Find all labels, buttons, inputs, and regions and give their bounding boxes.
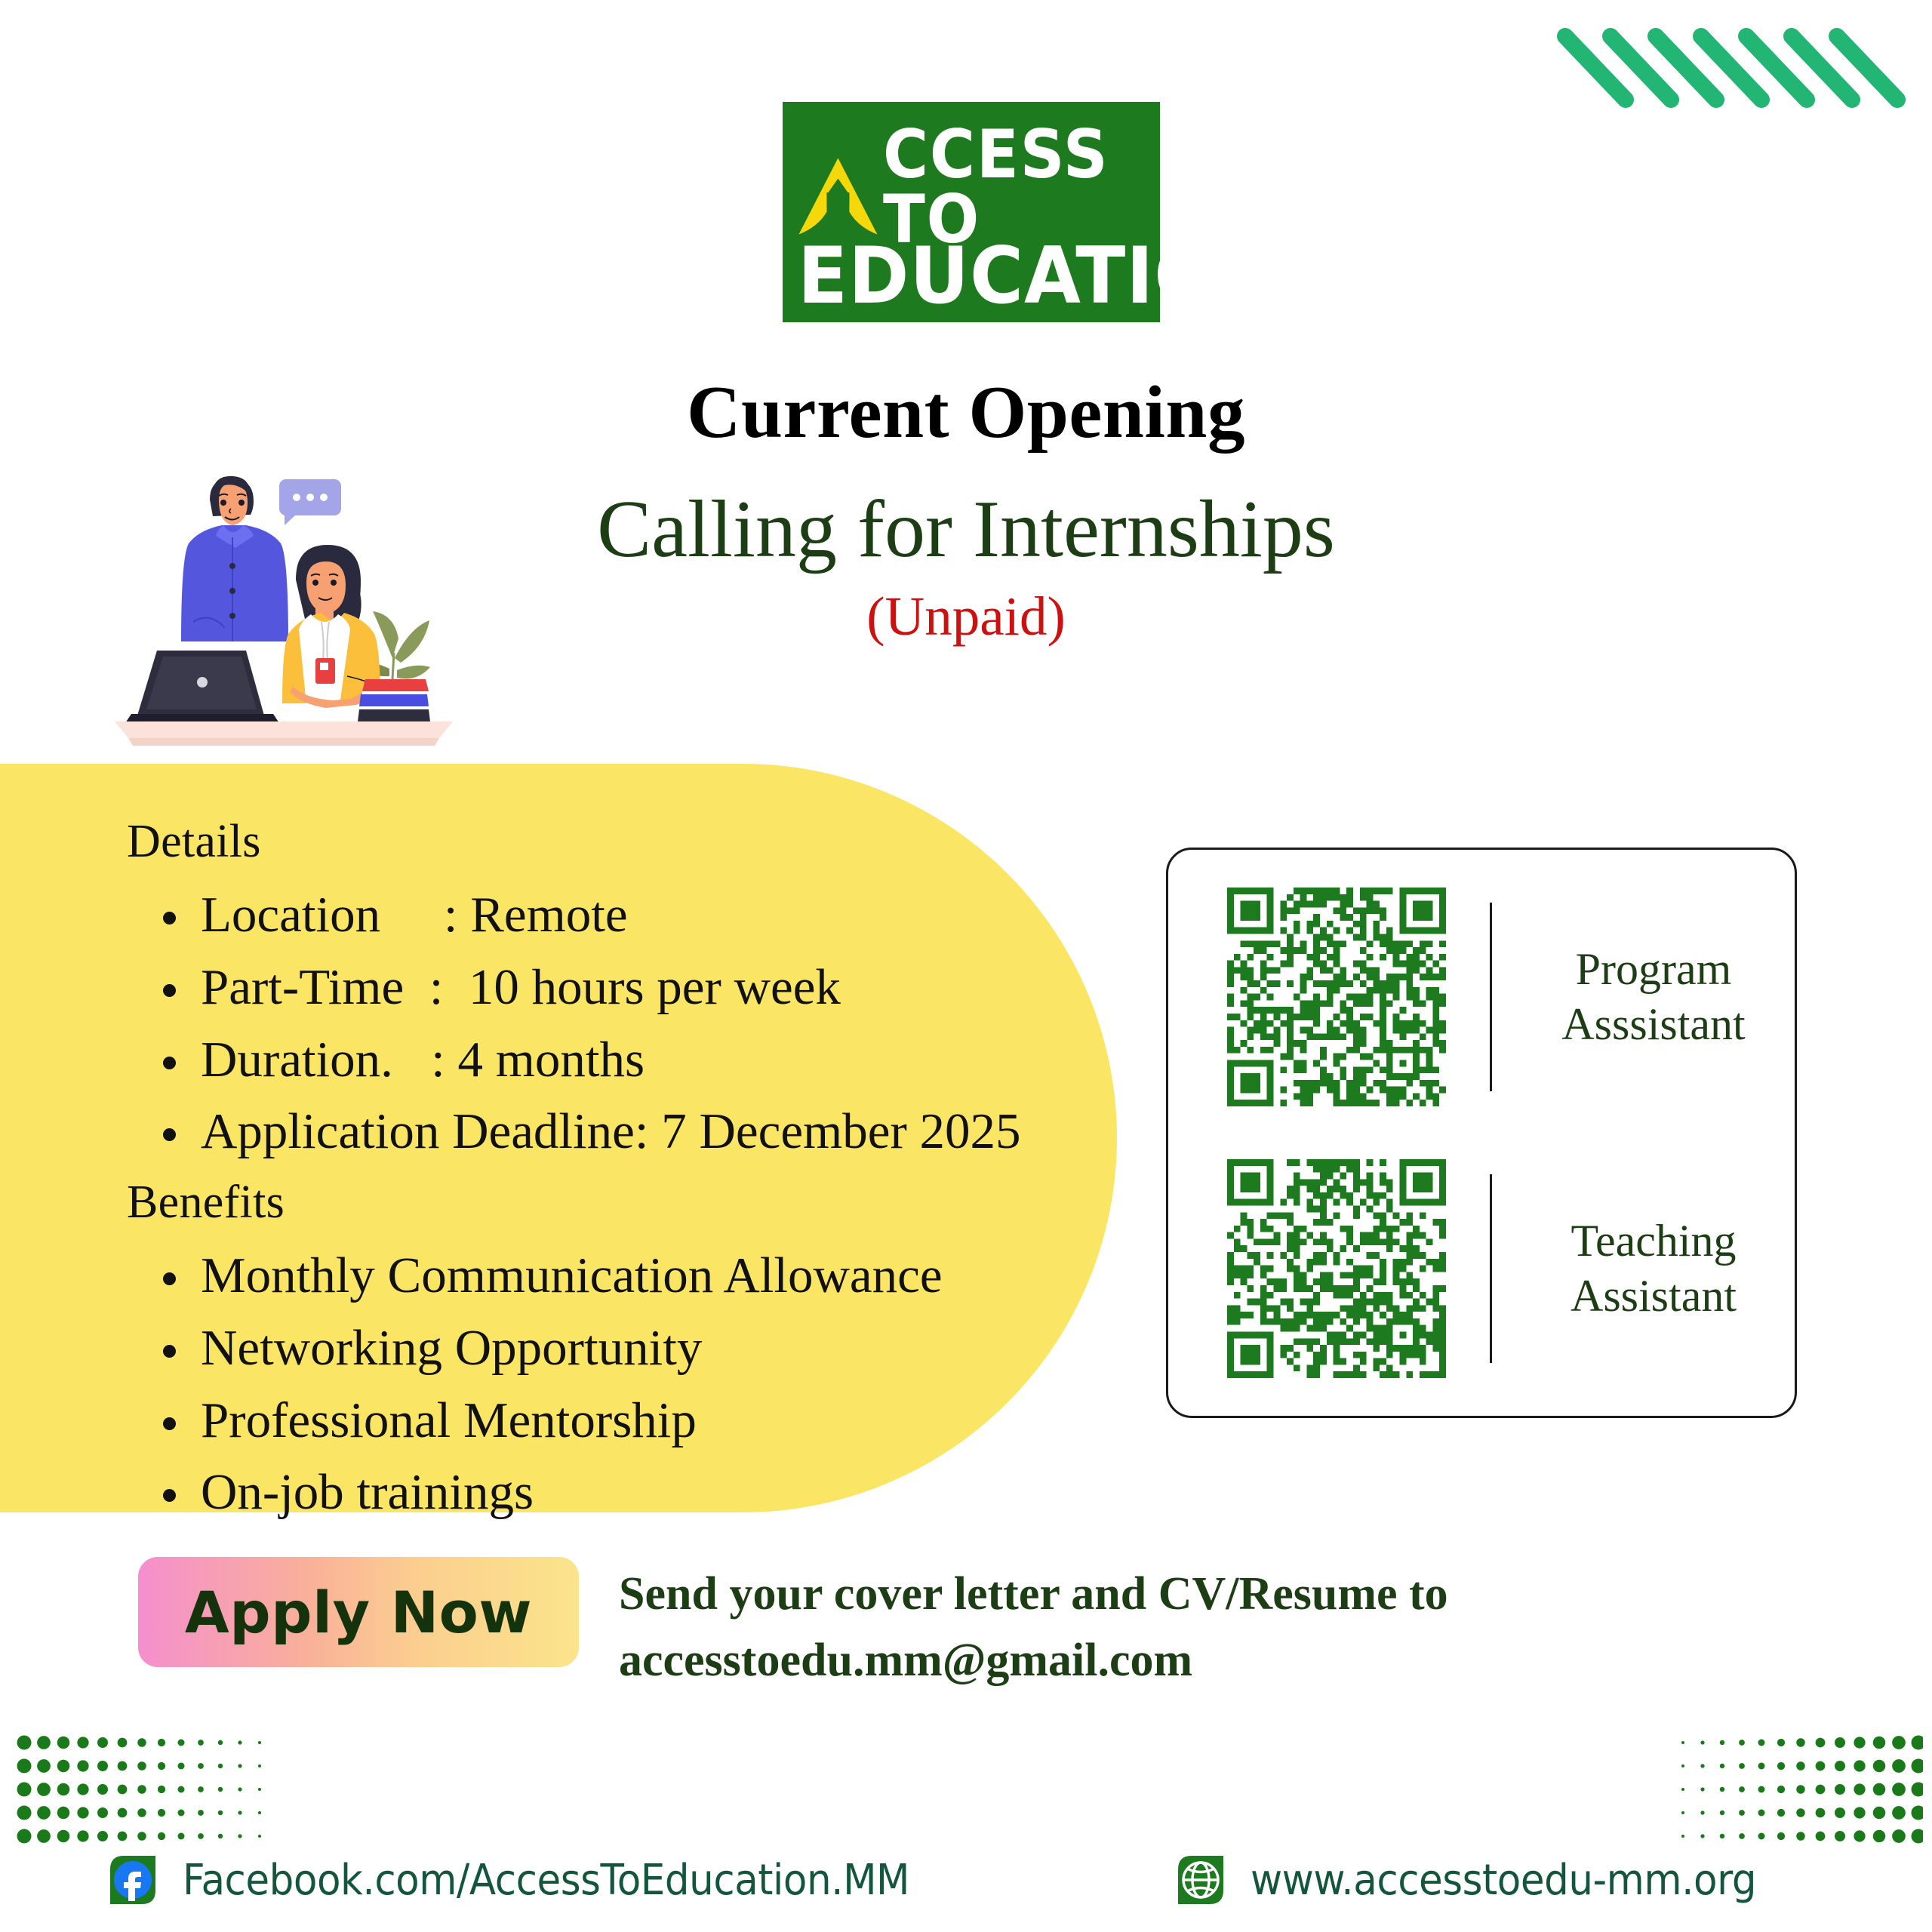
qr-divider bbox=[1490, 1174, 1492, 1363]
facebook-icon[interactable] bbox=[106, 1853, 160, 1907]
list-item: Monthly Communication Allowance bbox=[127, 1240, 943, 1312]
list-item: Networking Opportunity bbox=[127, 1312, 943, 1385]
benefits-title: Benefits bbox=[127, 1176, 943, 1229]
qr-code-teaching-assistant-icon[interactable] bbox=[1227, 1159, 1446, 1378]
qr-entry-teaching-assistant[interactable]: TeachingAssistant bbox=[1227, 1159, 1774, 1378]
qr-label-program-assistant: ProgramAsssistant bbox=[1533, 942, 1774, 1052]
logo-line-2: EDUCATION bbox=[798, 231, 1278, 321]
list-item: Application Deadline: 7 December 2025 bbox=[127, 1096, 1021, 1168]
list-item: Professional Mentorship bbox=[127, 1385, 943, 1457]
kicker-heading: Current Opening bbox=[0, 370, 1932, 455]
benefits-list: Monthly Communication Allowance Networki… bbox=[127, 1240, 943, 1529]
details-list: Location : Remote Part-Time : 10 hours p… bbox=[127, 879, 1021, 1168]
dot-grid-decoration-right bbox=[1674, 1734, 1923, 1862]
website-url-text[interactable]: www.accesstoedu-mm.org bbox=[1251, 1856, 1756, 1905]
instruction-line-2: accesstoedu.mm@gmail.com bbox=[619, 1627, 1448, 1694]
application-instructions: Send your cover letter and CV/Resume to … bbox=[619, 1561, 1448, 1694]
qr-code-card: ProgramAsssistant TeachingAssistant bbox=[1166, 848, 1797, 1418]
man-illustration bbox=[181, 476, 288, 641]
list-item: Part-Time : 10 hours per week bbox=[127, 952, 1021, 1024]
benefits-section: Benefits Monthly Communication Allowance… bbox=[127, 1176, 943, 1529]
globe-icon[interactable] bbox=[1174, 1853, 1228, 1907]
footer-website-link[interactable]: www.accesstoedu-mm.org bbox=[1174, 1853, 1800, 1907]
speech-bubble-icon bbox=[279, 479, 341, 525]
qr-entry-program-assistant[interactable]: ProgramAsssistant bbox=[1227, 888, 1774, 1106]
diagonal-stripes-decoration bbox=[1555, 0, 1932, 136]
dot-grid-decoration-left bbox=[15, 1734, 272, 1862]
book-stack-illustration bbox=[358, 679, 430, 721]
list-item: Duration. : 4 months bbox=[127, 1024, 1021, 1097]
laptop-illustration bbox=[125, 651, 279, 723]
details-title: Details bbox=[127, 815, 1021, 869]
facebook-url-text[interactable]: Facebook.com/AccessToEducation.MM bbox=[183, 1856, 909, 1905]
poster-canvas: CCESS TO EDUCATION Current Opening Calli… bbox=[0, 0, 1932, 1932]
organization-logo: CCESS TO EDUCATION bbox=[783, 102, 1160, 322]
id-badge-icon bbox=[315, 658, 335, 684]
qr-code-program-assistant-icon[interactable] bbox=[1227, 888, 1446, 1106]
qr-label-teaching-assistant: TeachingAssistant bbox=[1533, 1214, 1774, 1324]
list-item: Location : Remote bbox=[127, 879, 1021, 952]
footer-facebook-link[interactable]: Facebook.com/AccessToEducation.MM bbox=[106, 1853, 973, 1907]
apply-now-button[interactable]: Apply Now bbox=[138, 1557, 579, 1667]
details-section: Details Location : Remote Part-Time : 10… bbox=[127, 815, 1021, 1168]
list-item: On-job trainings bbox=[127, 1457, 943, 1529]
two-people-at-laptop-illustration bbox=[98, 453, 491, 755]
instruction-line-1: Send your cover letter and CV/Resume to bbox=[619, 1561, 1448, 1627]
qr-divider bbox=[1490, 903, 1492, 1091]
